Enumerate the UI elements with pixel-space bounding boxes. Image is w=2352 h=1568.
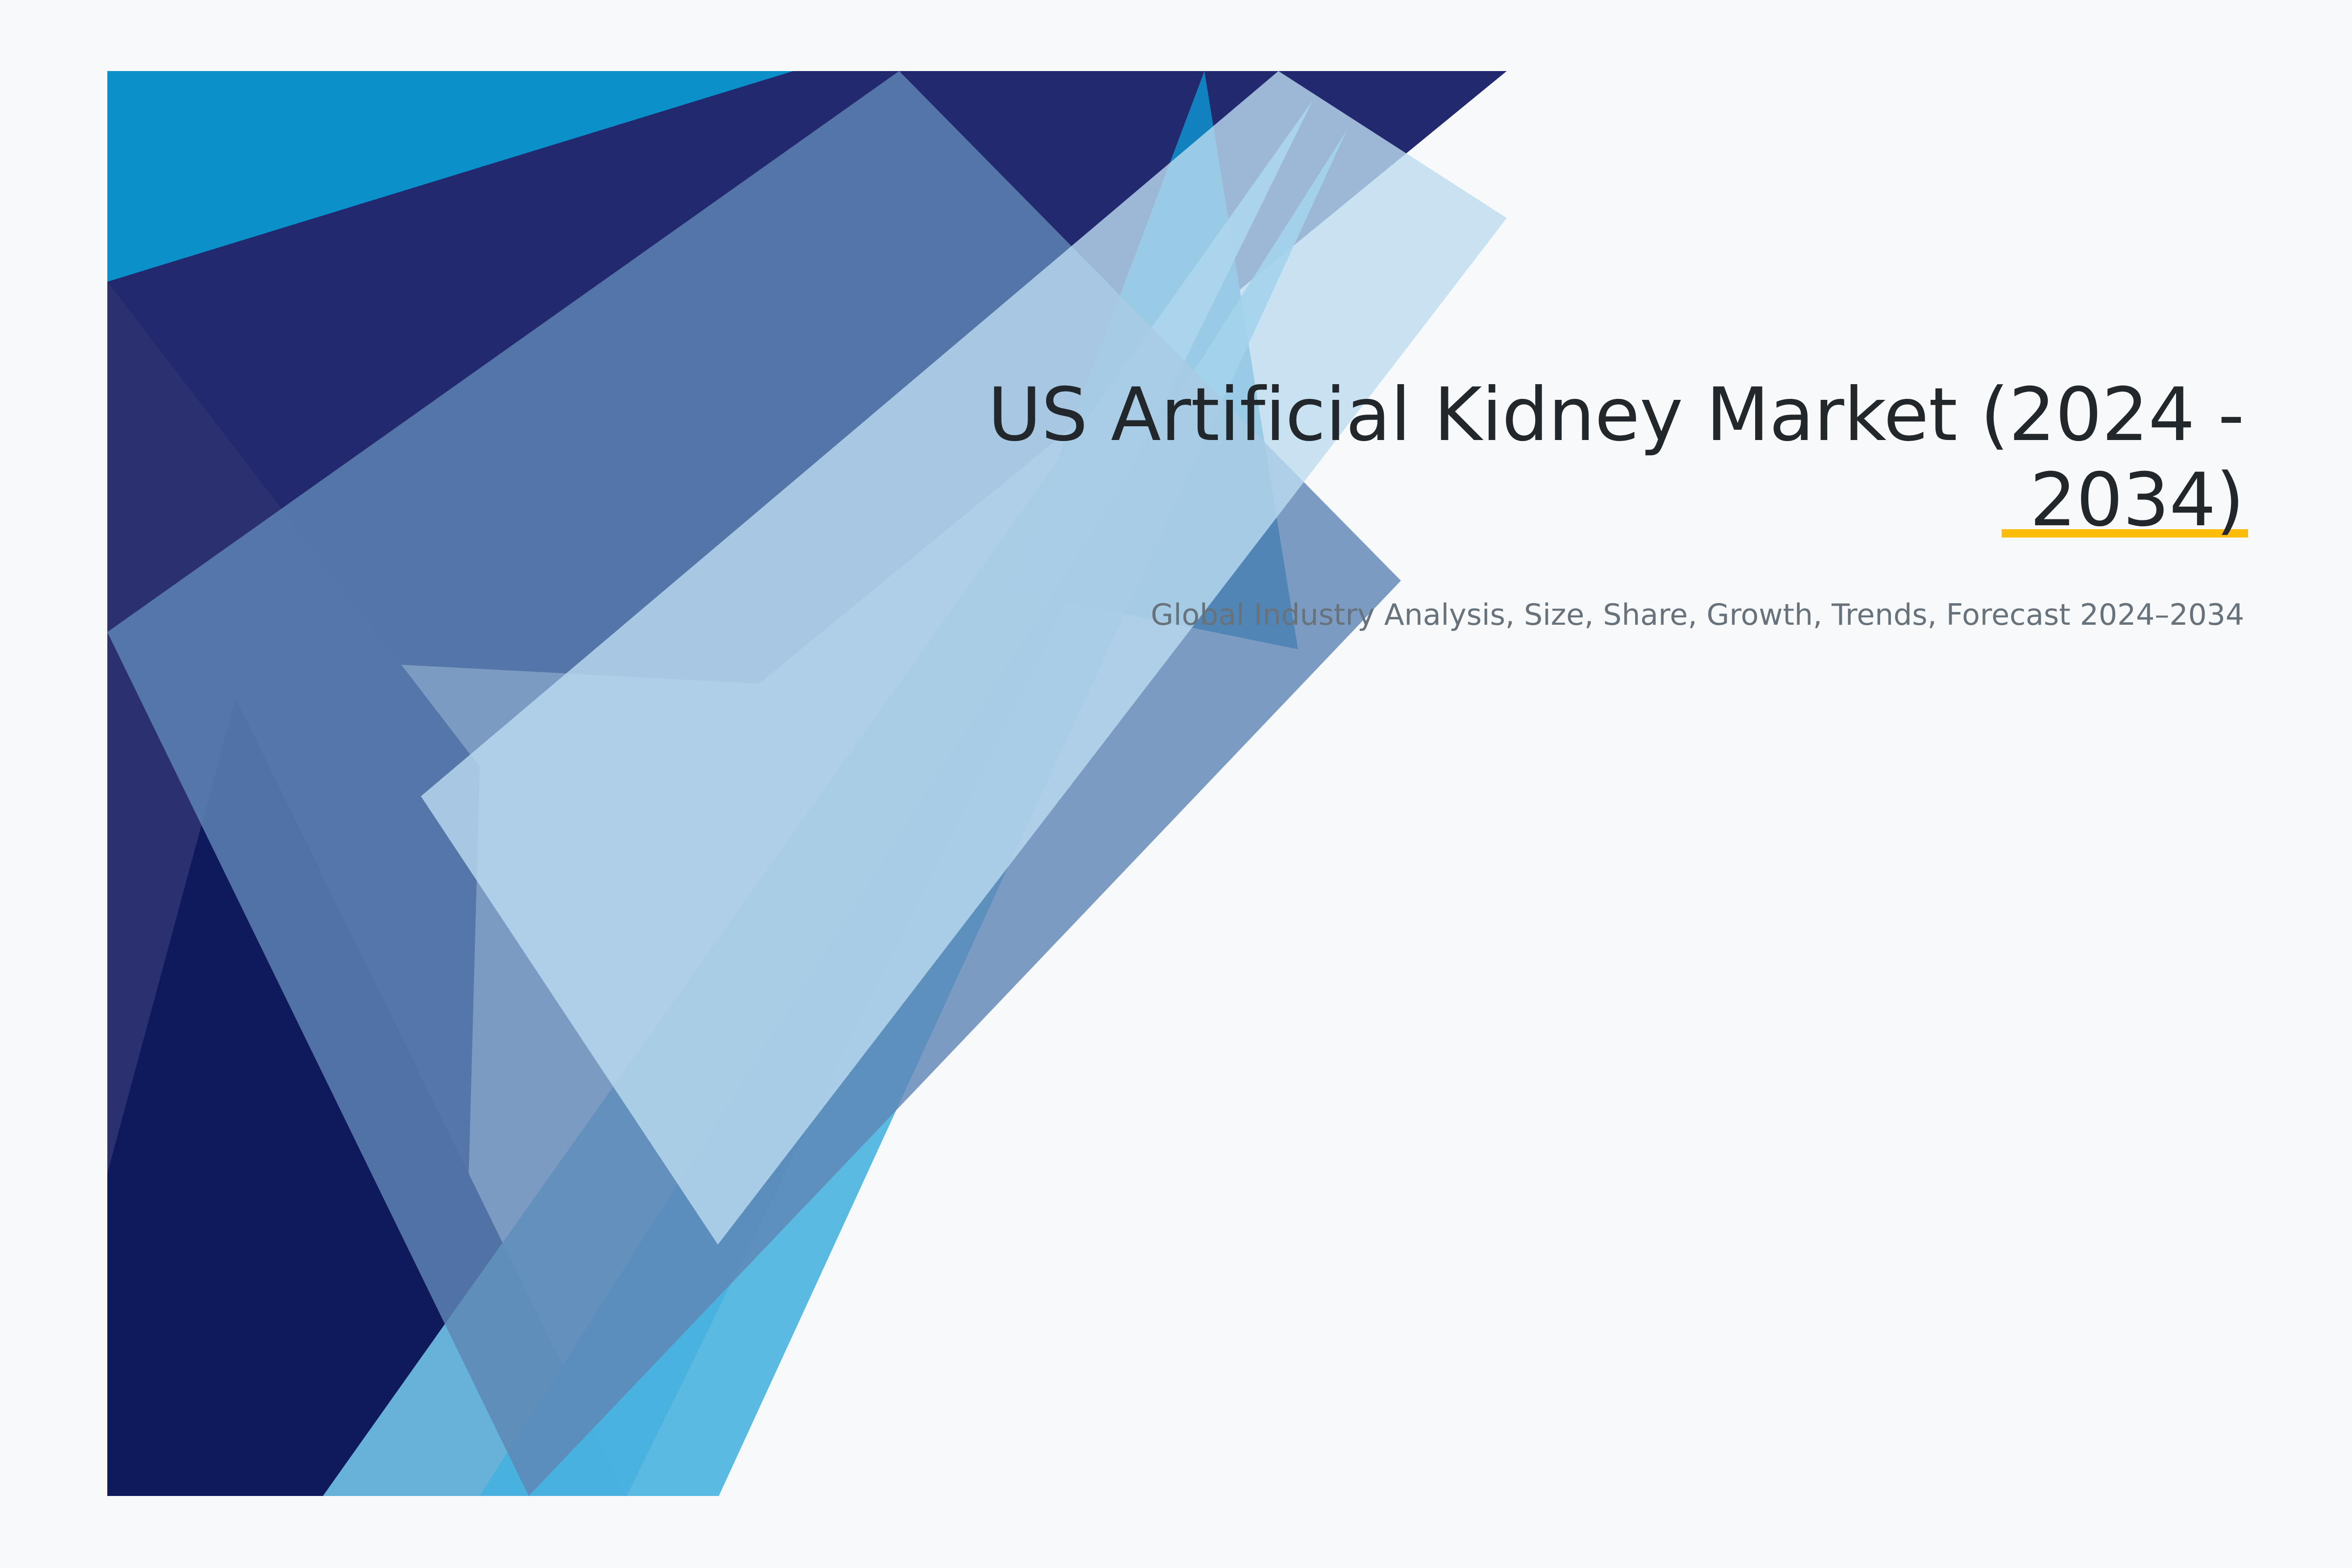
title-wrapper: US Artificial Kidney Market (2024 - 2034… <box>931 372 2244 543</box>
cover-text-block: US Artificial Kidney Market (2024 - 2034… <box>931 372 2244 635</box>
cover-artwork <box>107 71 1507 1496</box>
abstract-polygon-composition <box>107 71 1507 1496</box>
report-cover: US Artificial Kidney Market (2024 - 2034… <box>0 0 2352 1568</box>
page-subtitle: Global Industry Analysis, Size, Share, G… <box>931 543 2244 635</box>
page-title: US Artificial Kidney Market (2024 - 2034… <box>931 372 2244 543</box>
